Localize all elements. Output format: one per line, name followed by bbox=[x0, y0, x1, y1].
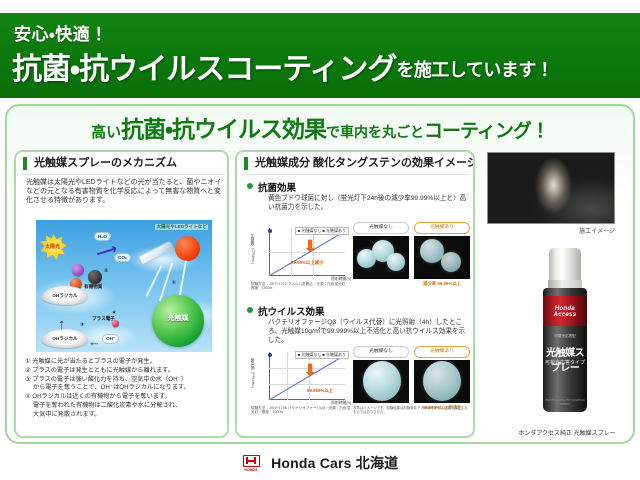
footer-bar: HONDA Honda Cars 北海道 bbox=[0, 449, 640, 480]
bottle-brand-text: Honda Access bbox=[543, 306, 587, 318]
molecule-icon bbox=[88, 270, 102, 284]
panel-mechanism-title: 光触媒スプレーのメカニズム bbox=[23, 157, 223, 170]
list-item: ③ プラスの電子は強い酸化力を持ち、空気中の水（OH⁻） bbox=[25, 376, 223, 384]
honda-h-mark bbox=[243, 455, 260, 467]
chart-antibacterial: 生菌数（CFU/mL） ⬇ 99.99%以上減少 ■ 光触媒なし ■ 光触媒あり… bbox=[251, 224, 351, 290]
petri-label-without: 光触媒なし bbox=[353, 222, 409, 234]
list-item: から電子を奪うことで、OH⁻はOHラジカルになります。 bbox=[25, 384, 223, 392]
petri-photo-without bbox=[353, 360, 409, 403]
chart-ylabel: 生菌数（CFU/mL） bbox=[251, 234, 256, 267]
petri-comparison-antiviral: 光触媒なし 光触媒あり 99.999%以上不活化 写真はイメージです。試験結果は… bbox=[353, 346, 471, 416]
bottle-body: Honda Access 可視光応答型 光触媒スプレー 可視光応答タイプ PHO… bbox=[543, 288, 587, 412]
mechanism-step-list: ① 光触媒に光が当たるとプラスの電子が発生。 ② プラスの電子は発生とともに光触… bbox=[25, 358, 223, 420]
red-sun-icon bbox=[175, 236, 200, 261]
panel-effects: 光触媒成分 酸化タングステンの効果イメージ 抗菌効果 黄色ブドウ球菌に対し〈蛍光… bbox=[235, 150, 475, 438]
application-photo-caption: 施工イメージ bbox=[487, 226, 615, 235]
petri-label-with: 光触媒あり bbox=[414, 222, 470, 234]
petri-photo-with bbox=[414, 360, 470, 403]
petri-photo-with bbox=[414, 236, 470, 279]
panel-mechanism: 光触媒スプレーのメカニズム 光触媒は太陽光やLEDライトなどの光が当たると、菌や… bbox=[14, 150, 229, 438]
poster-root: 安心・快適！ 抗菌・抗ウイルスコーティングを施工しています！ 高い抗菌・抗ウイル… bbox=[0, 0, 640, 480]
product-bottle-image: Honda Access 可視光応答型 光触媒スプレー 可視光応答タイプ PHO… bbox=[537, 248, 593, 424]
bottle-cap bbox=[549, 248, 581, 282]
subtitle-part-b: 抗菌・抗ウイルス効果 bbox=[121, 116, 326, 142]
chart-data-point bbox=[268, 229, 272, 233]
radical-cloud-1: OHラジカル bbox=[42, 286, 88, 305]
catalyst-label: 光触媒 bbox=[152, 313, 204, 323]
light-ray-icon bbox=[145, 265, 161, 296]
list-item: 電子を奪われた有機物は二酸化炭素や水に分解され、 bbox=[25, 402, 223, 410]
dealer-name: Honda Cars 北海道 bbox=[271, 453, 398, 473]
header-sub-title: を施工しています！ bbox=[396, 60, 553, 80]
petri-label-with: 光触媒あり bbox=[414, 346, 470, 358]
subtitle-part-a: 高い bbox=[91, 124, 121, 141]
arrow-up-icon: ↑ bbox=[58, 317, 66, 332]
bubble-oh: OH⁻ bbox=[102, 334, 119, 344]
petri-column-without: 光触媒なし bbox=[353, 222, 409, 279]
arrow-left-icon: ← bbox=[88, 335, 101, 348]
chart-data-point bbox=[268, 353, 272, 357]
list-item: ④ OHラジカルは近くの有機物から電子を奪います。 bbox=[25, 393, 223, 401]
petri-dish-icon bbox=[441, 252, 461, 272]
subtitle-part-c: で車内を丸ごと bbox=[326, 124, 424, 140]
header-tagline: 安心・快適！ bbox=[14, 20, 108, 45]
header-title-row: 抗菌・抗ウイルスコーティングを施工しています！ bbox=[12, 44, 553, 88]
bottle-footer-text: PHOTOCATALYST COATING SPRAY bbox=[543, 398, 587, 406]
section-heading-antibacterial: 抗菌効果 bbox=[258, 180, 296, 194]
plus-electron-label: プラス電子 bbox=[92, 316, 115, 322]
sun-label: 太陽光 bbox=[45, 243, 60, 250]
section-heading-antiviral: 抗ウイルス効果 bbox=[258, 304, 325, 318]
header-banner: 安心・快適！ 抗菌・抗ウイルスコーティングを施工しています！ bbox=[0, 13, 640, 98]
petri-disclaimer: 写真はイメージです。試験結果は試験条件下での値であり、効果を保証するものではあり… bbox=[353, 406, 471, 415]
honda-wordmark: HONDA bbox=[242, 468, 261, 472]
subtitle-part-d: コーティング！ bbox=[424, 121, 549, 142]
honda-logo-icon: HONDA bbox=[242, 455, 261, 472]
bottle-type-text: 可視光応答タイプ bbox=[543, 359, 587, 366]
product-caption: ホンダアクセス純正 光触媒スプレー bbox=[497, 428, 637, 437]
chart-legend: ■ 光触媒なし ■ 光触媒あり bbox=[295, 351, 349, 359]
oxidation-label: 有機物質 bbox=[84, 284, 102, 290]
list-item: ① 光触媒に光が当たるとプラスの電子が発生。 bbox=[25, 358, 223, 366]
bottle-subtext: 可視光応答型 bbox=[543, 334, 587, 339]
led-label: 太陽光やLEDライトなど bbox=[155, 224, 208, 230]
list-item: ② プラスの電子は発生とともに光触媒から離れます。 bbox=[25, 367, 223, 375]
bottle-brand-band: Honda Access bbox=[543, 296, 587, 326]
petri-dish-icon bbox=[423, 361, 461, 401]
chart-annotation: 99.99%以上減少 bbox=[291, 260, 323, 266]
panel-mechanism-title-rule bbox=[21, 174, 225, 175]
panel-mechanism-body: 光触媒は太陽光やLEDライトなどの光が当たると、菌やニオイなどの元となる有害物質… bbox=[26, 178, 222, 206]
led-light-icon bbox=[138, 241, 175, 266]
step-number-3: ③ bbox=[80, 322, 84, 328]
chart-antiviral: 感染価（PFU/mL） ⬇ 99.999%以上 ■ 光触媒なし ■ 光触媒あり … bbox=[251, 348, 351, 414]
petri-column-without: 光触媒なし bbox=[353, 346, 409, 403]
list-item: 大気中に発散されます。 bbox=[25, 411, 223, 419]
chart-decrease-arrow-icon: ⬇ bbox=[303, 238, 317, 255]
photocatalyst-diagram: 太陽光 太陽光やLEDライトなど 光触媒 H₂O CO₂ OH⁻ OHラジカル … bbox=[36, 220, 212, 352]
subtitle-row: 高い抗菌・抗ウイルス効果で車内を丸ごとコーティング！ bbox=[0, 110, 640, 140]
chart-caption: 試験方法：JIS R 1702 フィルム密着法／光源：白色蛍光灯／照度：1000… bbox=[251, 282, 351, 291]
petri-label-without: 光触媒なし bbox=[353, 346, 409, 358]
petri-dish-icon bbox=[363, 361, 401, 401]
chart-ylabel: 感染価（PFU/mL） bbox=[251, 358, 256, 391]
section-body-antiviral: バクテリオファージQβ（ウイルス代替）に光照射（4h）したところ、光触媒10g/… bbox=[268, 318, 468, 345]
step-number-2: ② bbox=[104, 268, 108, 274]
panel-effects-title: 光触媒成分 酸化タングステンの効果イメージ bbox=[244, 157, 469, 170]
molecule-icon bbox=[72, 264, 84, 276]
petri-photo-without bbox=[353, 236, 409, 279]
petri-result-note: 減少率 99.99%以上 bbox=[414, 281, 470, 287]
panel-effects-title-rule bbox=[242, 174, 470, 175]
catalyst-sphere: 光触媒 bbox=[152, 295, 204, 347]
petri-dish-icon bbox=[387, 253, 405, 271]
application-photo bbox=[487, 152, 615, 224]
bubble-h2o: H₂O bbox=[94, 232, 111, 241]
petri-column-with: 光触媒あり 減少率 99.99%以上 bbox=[414, 222, 470, 287]
footer-logo-row: HONDA Honda Cars 北海道 bbox=[0, 453, 640, 473]
chart-annotation: 99.999%以上 bbox=[307, 388, 333, 394]
petri-comparison-antibacterial: 光触媒なし 光触媒あり 減少率 99.99%以上 bbox=[353, 222, 471, 292]
chart-decrease-arrow-icon: ⬇ bbox=[303, 362, 317, 379]
chart-legend: ■ 光触媒なし ■ 光触媒あり bbox=[295, 227, 349, 235]
petri-column-with: 光触媒あり 99.999%以上不活化 bbox=[414, 346, 470, 411]
chart-caption: 試験方法：JIS R 1756 バクテリオファージQβ／光源：白色蛍光灯／照度：… bbox=[251, 406, 351, 415]
step-number-1: ① bbox=[172, 280, 176, 286]
section-body-antibacterial: 黄色ブドウ球菌に対し〈蛍光灯下24h後の減少率99.99%以上と〉高い抗菌力を示… bbox=[268, 194, 468, 212]
header-main-title: 抗菌・抗ウイルスコーティング bbox=[12, 53, 396, 86]
